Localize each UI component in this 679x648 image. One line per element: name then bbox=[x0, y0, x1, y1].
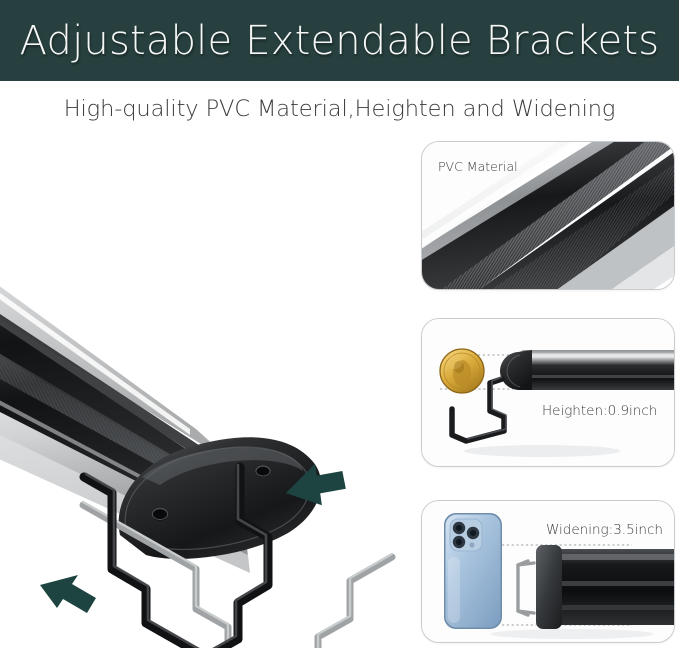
widening-illustration bbox=[422, 501, 674, 642]
product-illustration bbox=[0, 137, 412, 648]
end-cap bbox=[536, 545, 562, 629]
panel-pvc-material: PVC Material bbox=[421, 141, 675, 290]
header-band: Adjustable Extendable Brackets bbox=[0, 0, 679, 81]
iphone-sierra-blue bbox=[444, 513, 502, 629]
heighten-illustration bbox=[422, 319, 674, 466]
hero-product-image bbox=[0, 137, 412, 648]
page-title: Adjustable Extendable Brackets bbox=[20, 18, 660, 64]
pvc-material-illustration bbox=[422, 142, 674, 289]
golden-dollar-coin bbox=[440, 349, 484, 393]
light-bar-tube bbox=[500, 350, 674, 390]
panel-widening: Widening:3.5inch bbox=[421, 500, 675, 643]
screw-hole bbox=[153, 510, 168, 521]
panel-heighten: Heighten:0.9inch bbox=[421, 318, 675, 467]
flash-icon bbox=[469, 542, 474, 547]
arrow-extend bbox=[40, 575, 96, 613]
product-infographic: Adjustable Extendable Brackets High-qual… bbox=[0, 0, 679, 648]
subtitle-row: High-quality PVC Material,Heighten and W… bbox=[0, 81, 679, 137]
subtitle-text: High-quality PVC Material,Heighten and W… bbox=[64, 96, 616, 122]
light-bar-wide bbox=[536, 545, 674, 629]
